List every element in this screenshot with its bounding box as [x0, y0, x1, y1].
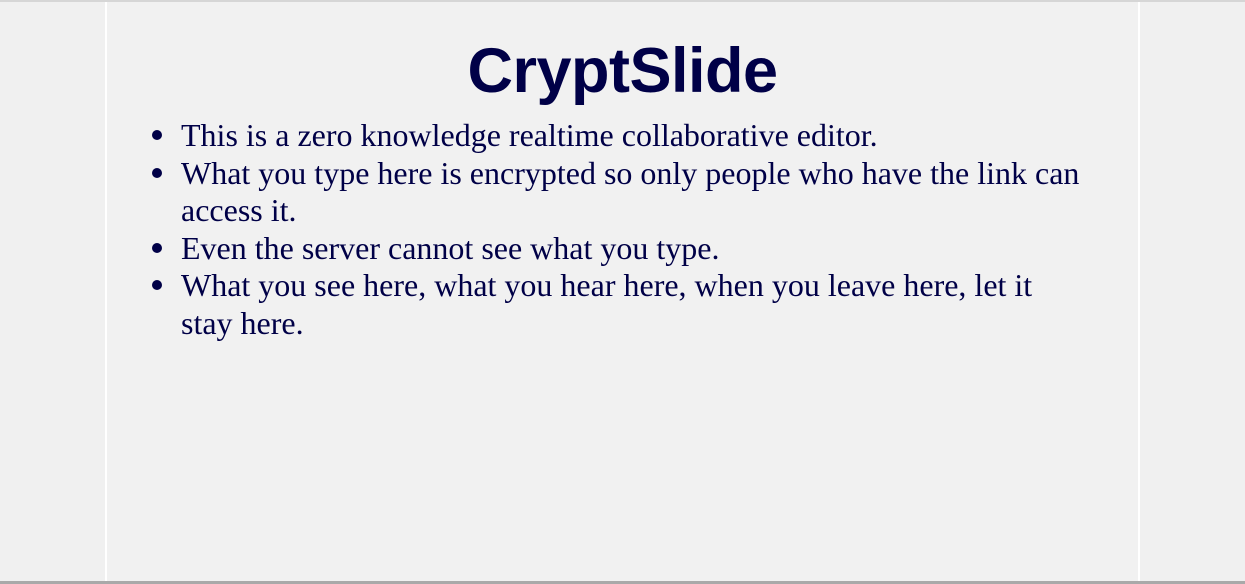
slide-bullet-list: This is a zero knowledge realtime collab…	[107, 117, 1138, 342]
slide-content-area[interactable]: CryptSlide This is a zero knowledge real…	[107, 2, 1138, 581]
list-item-text: This is a zero knowledge realtime collab…	[181, 117, 1090, 155]
slide-viewer-canvas: CryptSlide This is a zero knowledge real…	[0, 0, 1245, 584]
bullet-dot-icon	[152, 130, 162, 140]
list-item-text: Even the server cannot see what you type…	[181, 230, 1090, 268]
slide-title[interactable]: CryptSlide	[107, 2, 1138, 103]
list-item[interactable]: What you see here, what you hear here, w…	[147, 267, 1090, 342]
list-item[interactable]: Even the server cannot see what you type…	[147, 230, 1090, 268]
list-item-text: What you type here is encrypted so only …	[181, 155, 1090, 230]
list-item[interactable]: This is a zero knowledge realtime collab…	[147, 117, 1090, 155]
bullet-dot-icon	[152, 243, 162, 253]
bullet-dot-icon	[152, 280, 162, 290]
list-item[interactable]: What you type here is encrypted so only …	[147, 155, 1090, 230]
slide-frame: CryptSlide This is a zero knowledge real…	[105, 2, 1140, 581]
list-item-text: What you see here, what you hear here, w…	[181, 267, 1090, 342]
bullet-dot-icon	[152, 168, 162, 178]
